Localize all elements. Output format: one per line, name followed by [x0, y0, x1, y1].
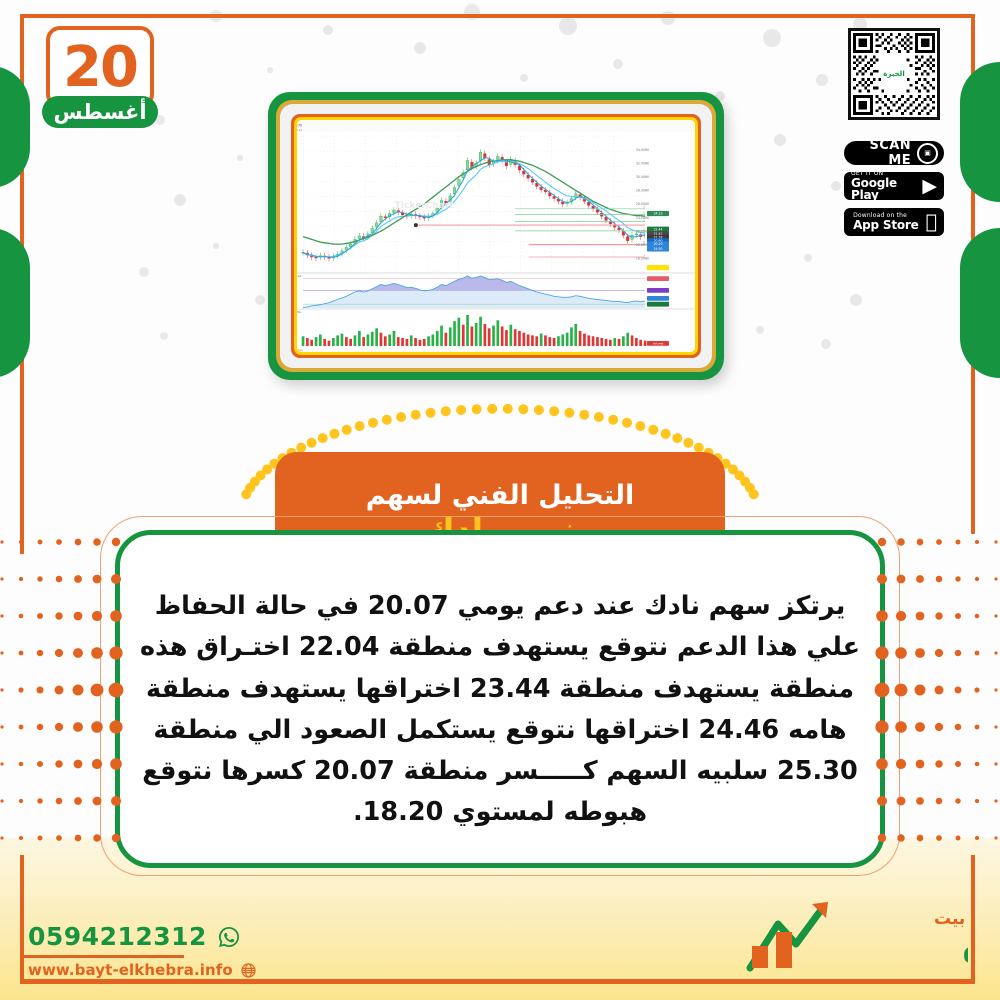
svg-text:30.0000: 30.0000 — [636, 175, 649, 179]
contact-phone[interactable]: 0594212312 — [28, 922, 241, 951]
website-url: www.bayt-elkhebra.info — [28, 961, 233, 979]
scan-me-label: SCAN ME — [844, 138, 911, 168]
svg-text:MA(5) MA(20) MA(60) Vol O:21.: MA(5) MA(20) MA(60) Vol O:21.40 H:21.70 … — [297, 128, 302, 132]
stock-chart[interactable]: NADEC 2270 التحليل الفني لسهم نادك 21.42… — [297, 120, 695, 352]
svg-text:34.0000: 34.0000 — [636, 148, 649, 152]
svg-text:24.0000: 24.0000 — [636, 216, 649, 220]
google-play-badge[interactable]: ▶ GET IT ON Google Play — [844, 172, 944, 200]
svg-text:26.0000: 26.0000 — [636, 202, 649, 206]
globe-icon — [240, 962, 257, 979]
qr-small-icon: ▣ — [917, 143, 938, 164]
frame-left-lower — [20, 855, 24, 983]
decorative-dotgrid-right — [874, 530, 1000, 860]
svg-text:24.13: 24.13 — [654, 212, 663, 216]
svg-text:20.20: 20.20 — [654, 242, 663, 246]
green-tab-right-top — [960, 62, 1000, 202]
scan-me-badge[interactable]: ▣ SCAN ME — [844, 141, 944, 165]
title-line-1: التحليل الفني لسهم — [366, 480, 635, 511]
brand-top-word: بيت — [934, 909, 965, 929]
svg-text:18.0000: 18.0000 — [636, 257, 649, 261]
green-tab-left-mid — [0, 228, 30, 378]
google-play-label: Google Play — [851, 177, 915, 201]
green-tab-right-mid — [960, 228, 1000, 378]
brand-chart-arrow-icon — [750, 902, 828, 968]
app-store-label: App Store — [853, 219, 919, 231]
poster-canvas: 20 أغسطس — [0, 0, 1000, 1000]
svg-text:MACD DIF 0.21 DEA 0.14: MACD DIF 0.21 DEA 0.14 — [297, 274, 301, 278]
brand-main-word: الخبرة — [962, 922, 968, 973]
app-store-badge[interactable]:  Download on the App Store — [844, 208, 944, 236]
svg-text:22.44: 22.44 — [654, 227, 663, 231]
frame-top — [20, 14, 975, 18]
contact-website[interactable]: www.bayt-elkhebra.info — [28, 961, 257, 979]
footer-divider — [24, 955, 184, 958]
svg-text:28.0000: 28.0000 — [636, 189, 649, 193]
analysis-paragraph: يرتكز سهم نادك عند دعم يومي 20.07 في حال… — [135, 586, 865, 834]
svg-text:19.50: 19.50 — [654, 247, 663, 251]
svg-text:VOL: VOL — [297, 310, 301, 314]
svg-text:TickerChart: TickerChart — [395, 201, 454, 211]
svg-text:Volume: Volume — [653, 342, 664, 346]
frame-bottom — [20, 979, 975, 984]
phone-number: 0594212312 — [28, 922, 207, 951]
brand-logo: بيت الخبرة — [738, 898, 968, 978]
whatsapp-icon — [217, 925, 241, 949]
stock-chart-svg: NADEC 2270 التحليل الفني لسهم نادك 21.42… — [297, 120, 695, 352]
date-month: أغسطس — [42, 96, 158, 128]
svg-text:32.0000: 32.0000 — [636, 161, 649, 165]
svg-text:NADEC 2270 التحليل الفني لسهم: NADEC 2270 التحليل الفني لسهم نادك 21.42… — [297, 124, 302, 128]
qr-center-logo: الخبرة — [881, 61, 907, 87]
apple-icon:  — [926, 213, 937, 232]
google-play-icon: ▶ — [922, 177, 937, 196]
decorative-dotgrid-left — [0, 530, 126, 860]
frame-right-lower — [971, 855, 975, 983]
